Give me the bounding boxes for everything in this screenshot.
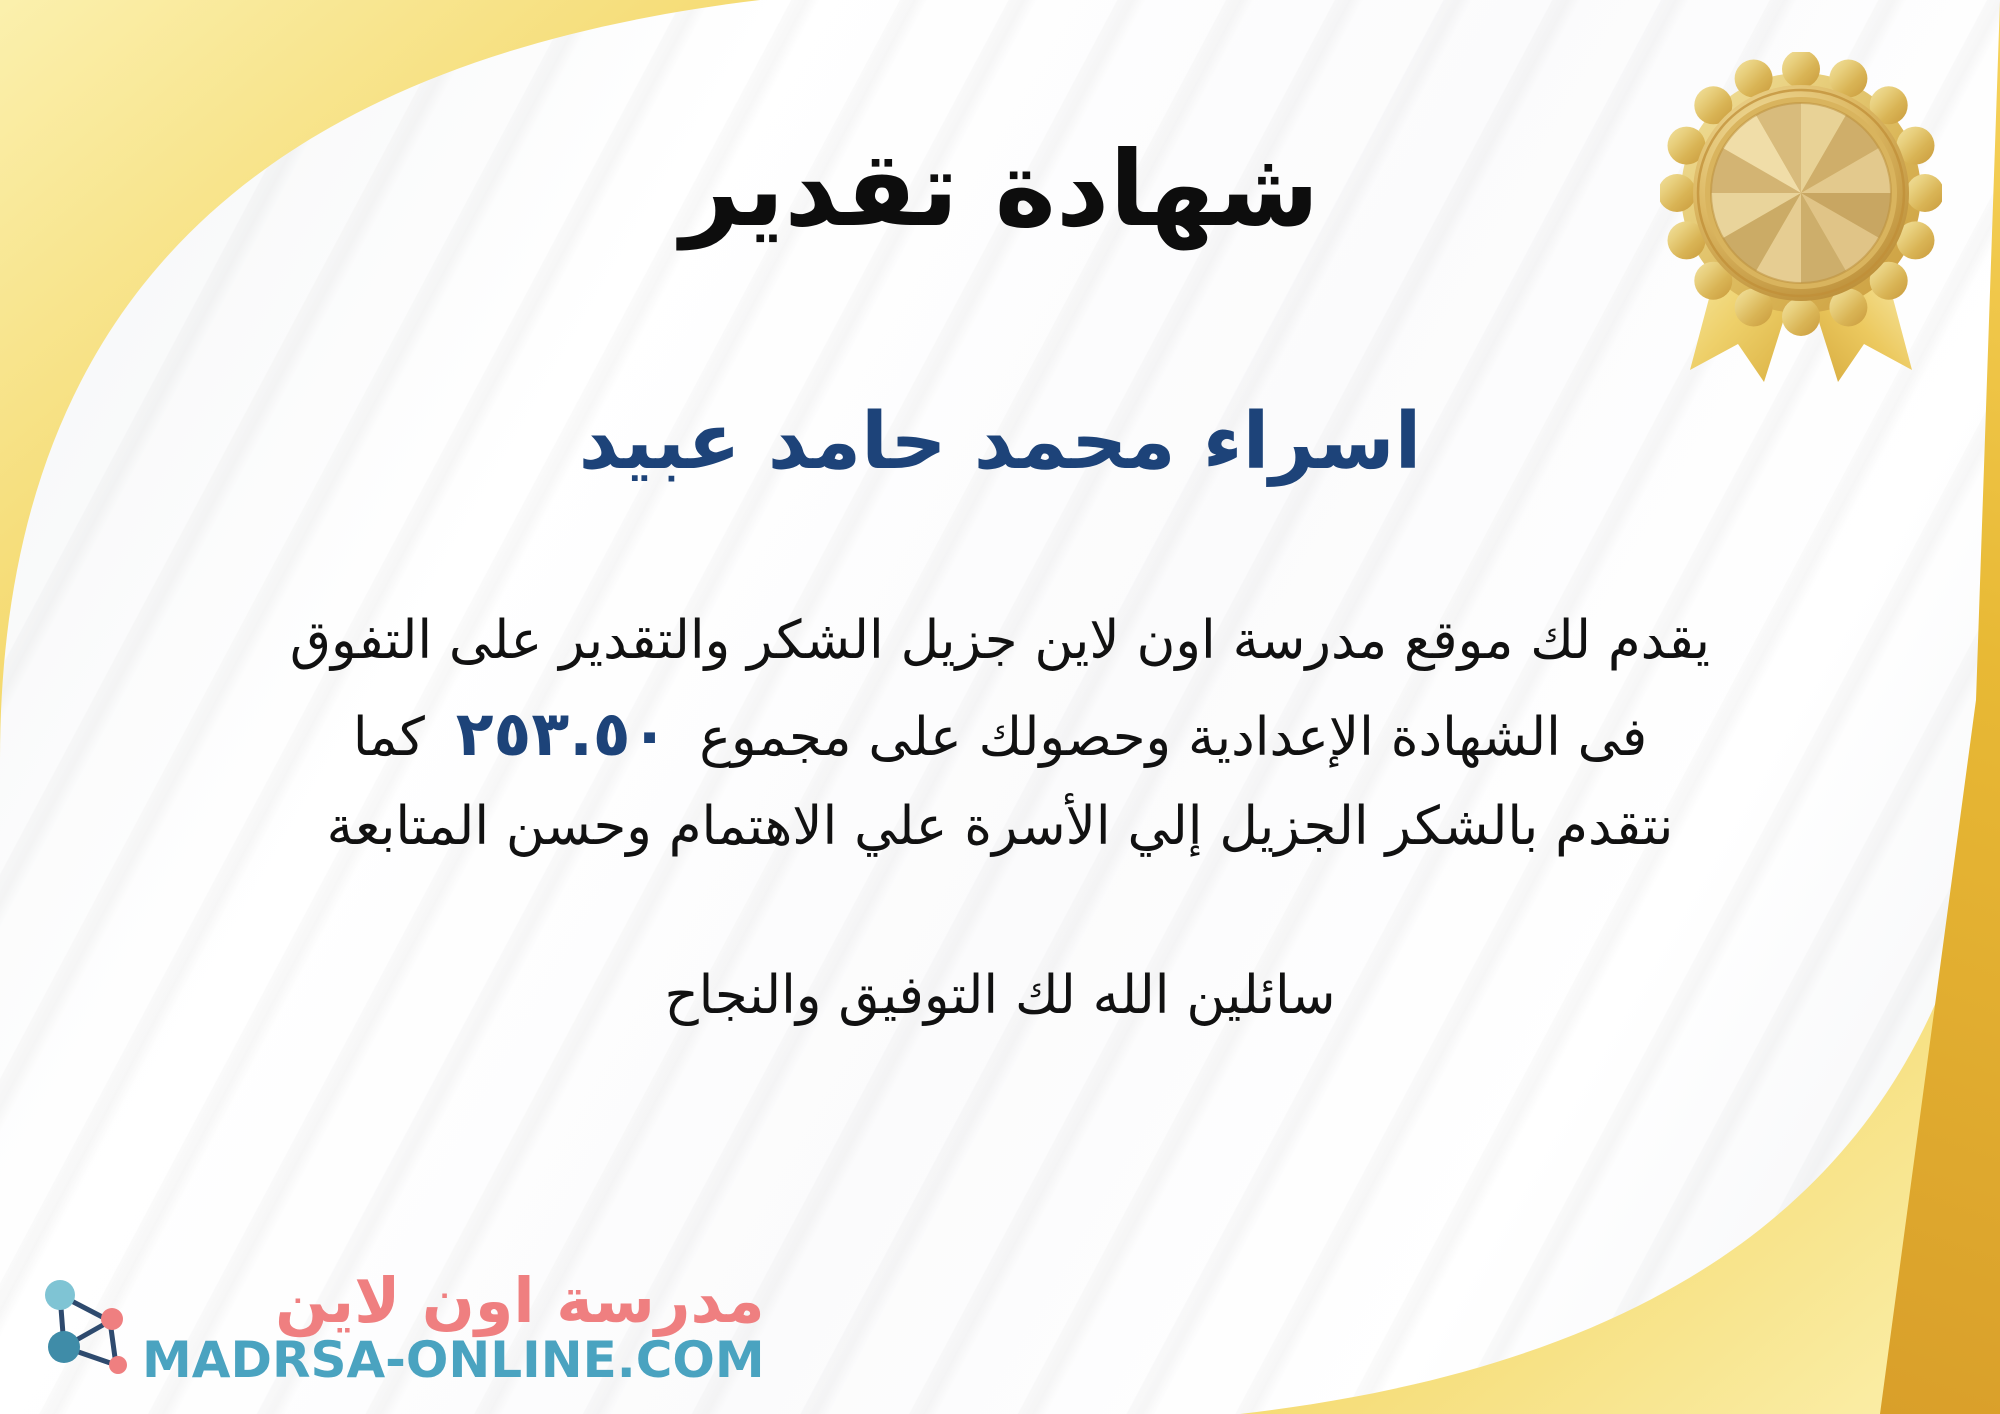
body-line-3: نتقدم بالشكر الجزيل إلي الأسرة علي الاهت… bbox=[100, 784, 1900, 870]
total-score-value: ٢٥٣.٥٠ bbox=[442, 697, 683, 770]
body-line-2: فى الشهادة الإعدادية وحصولك على مجموع ٢٥… bbox=[100, 684, 1900, 784]
body-text: يقدم لك موقع مدرسة اون لاين جزيل الشكر و… bbox=[60, 598, 1940, 870]
brand-name-arabic: مدرسة اون لاين bbox=[275, 1268, 765, 1333]
certificate-canvas: شهادة تقدير اسراء محمد حامد عبيد يقدم لك… bbox=[0, 0, 2000, 1414]
gold-rosette-medal-icon bbox=[1660, 52, 1942, 382]
body-line-2-prefix: فى الشهادة الإعدادية وحصولك على مجموع bbox=[699, 707, 1647, 768]
brand-website-url: MADRSA-ONLINE.COM bbox=[142, 1334, 765, 1387]
recipient-name: اسراء محمد حامد عبيد bbox=[0, 396, 2000, 490]
network-nodes-icon bbox=[34, 1273, 132, 1381]
brand-logo-text: مدرسة اون لاين MADRSA-ONLINE.COM bbox=[142, 1268, 765, 1386]
brand-logo[interactable]: مدرسة اون لاين MADRSA-ONLINE.COM bbox=[34, 1268, 765, 1386]
body-line-1: يقدم لك موقع مدرسة اون لاين جزيل الشكر و… bbox=[100, 598, 1900, 684]
body-line-2-suffix: كما bbox=[353, 707, 425, 768]
closing-line: سائلين الله لك التوفيق والنجاح bbox=[0, 956, 2000, 1036]
